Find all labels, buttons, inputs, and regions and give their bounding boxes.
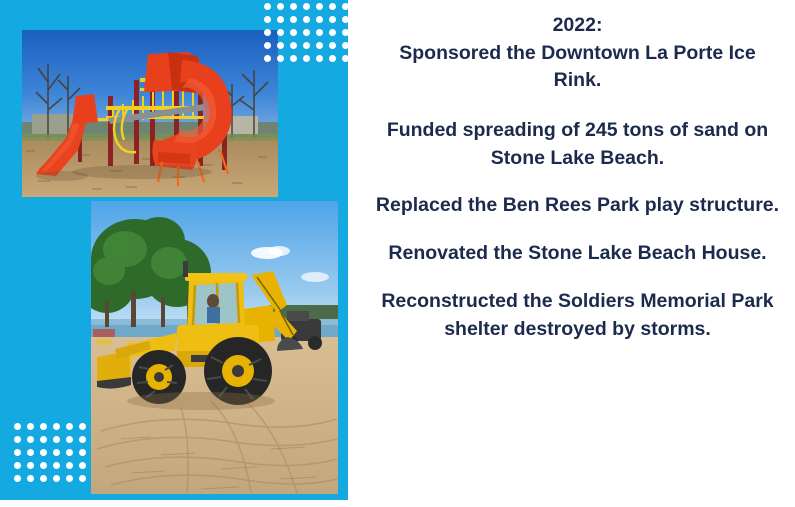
dot-grid-top [264, 3, 349, 62]
dot [264, 16, 271, 23]
dot [329, 42, 336, 49]
dot [14, 462, 21, 469]
dot [342, 42, 349, 49]
dot-grid-bottom [14, 423, 86, 482]
dot [316, 42, 323, 49]
dot [79, 475, 86, 482]
dot [277, 3, 284, 10]
accomplishment-item-3-block: Replaced the Ben Rees Park play structur… [374, 192, 781, 220]
dot [14, 449, 21, 456]
dot [14, 475, 21, 482]
dot [14, 423, 21, 430]
dot [40, 475, 47, 482]
dot [264, 55, 271, 62]
dot [66, 436, 73, 443]
dot [290, 16, 297, 23]
accomplishment-item-4-block: Renovated the Stone Lake Beach House. [374, 240, 781, 268]
playground-photo [22, 30, 278, 197]
dot [329, 29, 336, 36]
accomplishments-text-column: 2022: Sponsored the Downtown La Porte Ic… [360, 0, 795, 507]
dot [342, 55, 349, 62]
dot [53, 436, 60, 443]
dot [303, 55, 310, 62]
backhoe-beach-photo [91, 201, 338, 494]
dot [27, 475, 34, 482]
dot [79, 462, 86, 469]
dot [290, 55, 297, 62]
dot [277, 55, 284, 62]
dot [316, 55, 323, 62]
accomplishment-item-1: Sponsored the Downtown La Porte Ice Rink… [399, 42, 755, 92]
dot [303, 42, 310, 49]
dot [342, 3, 349, 10]
dot [277, 29, 284, 36]
dot [27, 449, 34, 456]
dot [303, 16, 310, 23]
dot [342, 29, 349, 36]
dot [316, 29, 323, 36]
dot [290, 29, 297, 36]
dot [303, 29, 310, 36]
accomplishment-item-5-block: Reconstructed the Soldiers Memorial Park… [374, 288, 781, 343]
dot [290, 42, 297, 49]
dot [316, 16, 323, 23]
dot [79, 423, 86, 430]
dot [66, 449, 73, 456]
dot [277, 16, 284, 23]
dot [66, 462, 73, 469]
accomplishment-item-5: Reconstructed the Soldiers Memorial Park… [381, 290, 773, 340]
dot [27, 462, 34, 469]
year-heading-block: 2022: Sponsored the Downtown La Porte Ic… [374, 12, 781, 95]
dot [264, 42, 271, 49]
dot [66, 475, 73, 482]
dot [79, 436, 86, 443]
accomplishment-item-4: Renovated the Stone Lake Beach House. [388, 242, 766, 264]
dot [53, 475, 60, 482]
dot [40, 462, 47, 469]
dot [27, 423, 34, 430]
dot [14, 436, 21, 443]
dot [329, 3, 336, 10]
dot [316, 3, 323, 10]
dot [27, 436, 34, 443]
dot [277, 42, 284, 49]
dot [264, 29, 271, 36]
dot [66, 423, 73, 430]
dot [79, 449, 86, 456]
dot [329, 16, 336, 23]
accomplishment-item-3: Replaced the Ben Rees Park play structur… [376, 194, 779, 216]
dot [53, 449, 60, 456]
dot [264, 3, 271, 10]
dot [40, 449, 47, 456]
dot [290, 3, 297, 10]
dot [53, 462, 60, 469]
accomplishment-item-2-block: Funded spreading of 245 tons of sand on … [374, 117, 781, 172]
dot [40, 423, 47, 430]
dot [342, 16, 349, 23]
dot [40, 436, 47, 443]
dot [303, 3, 310, 10]
backhoe-photo-graphic [91, 201, 338, 494]
accomplishment-item-2: Funded spreading of 245 tons of sand on … [387, 119, 768, 169]
dot [53, 423, 60, 430]
year-heading: 2022: [553, 14, 603, 36]
dot [329, 55, 336, 62]
playground-photo-graphic [22, 30, 278, 197]
slide-canvas: 2022: Sponsored the Downtown La Porte Ic… [0, 0, 795, 507]
